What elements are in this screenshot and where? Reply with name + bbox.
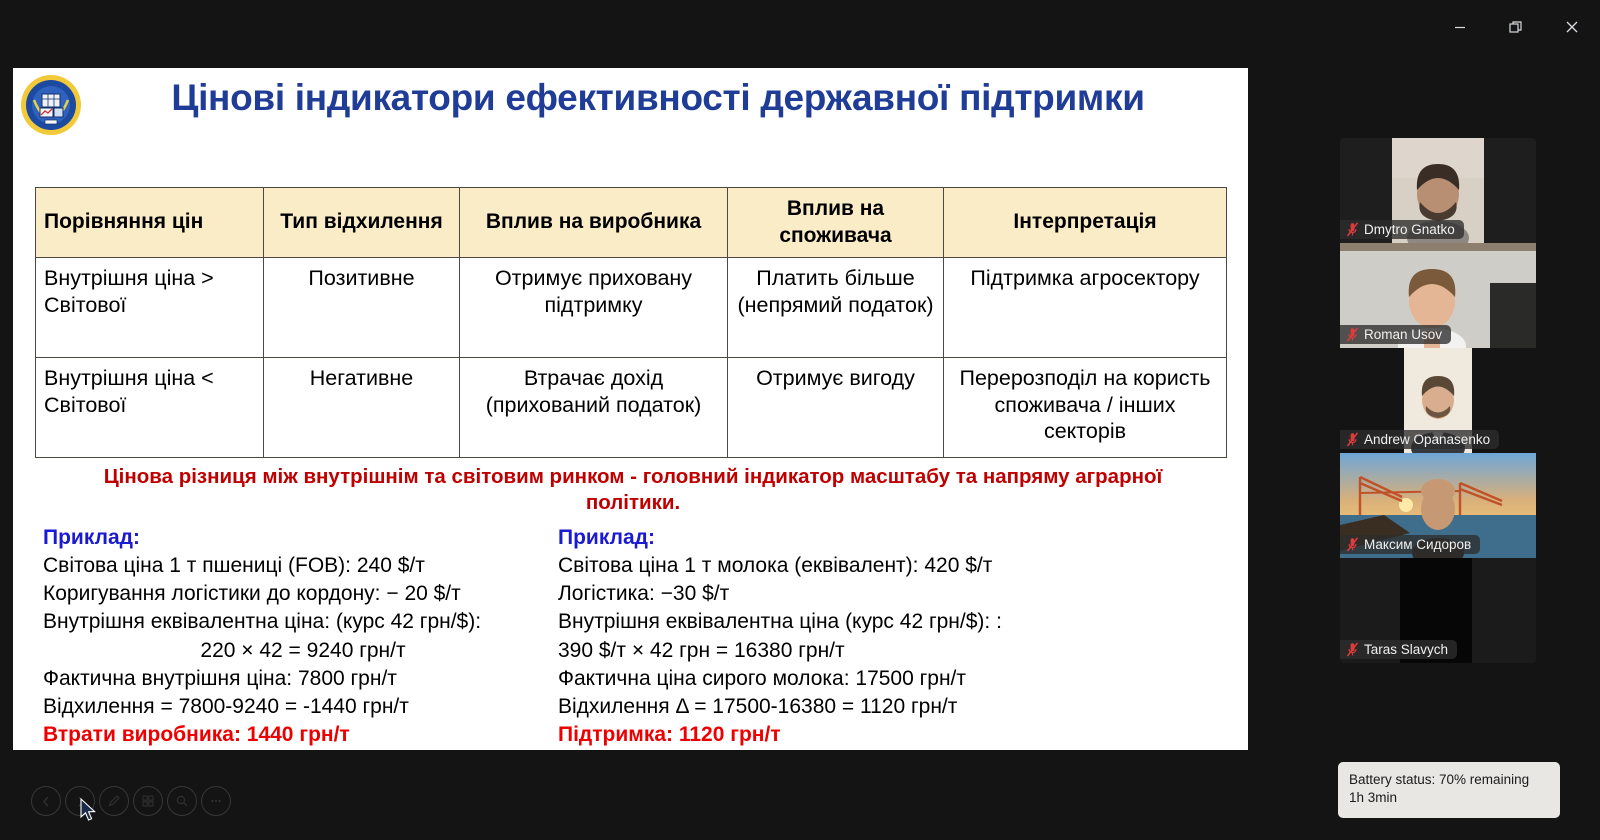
participant-tile[interactable]: Максим Сидоров <box>1340 453 1536 558</box>
microphone-muted-icon <box>1346 537 1359 552</box>
restore-button[interactable] <box>1488 0 1544 54</box>
pen-tool-button[interactable] <box>99 786 129 816</box>
example-right-heading: Приклад: <box>558 524 1098 552</box>
minimize-icon <box>1452 19 1468 35</box>
participant-tile[interactable]: Taras Slavych <box>1340 558 1536 663</box>
example-left-result: Втрати виробника: 1440 грн/т <box>43 721 563 749</box>
example-left: Приклад: Світова ціна 1 т пшениці (FOB):… <box>43 524 563 749</box>
mouse-cursor-icon <box>79 798 99 824</box>
microphone-muted-icon <box>1346 642 1359 657</box>
example-left-line: Внутрішня еквівалентна ціна: (курс 42 гр… <box>43 608 563 636</box>
table-header-cell: Тип відхилення <box>264 188 460 258</box>
close-icon <box>1563 18 1581 36</box>
participant-namebar: Максим Сидоров <box>1340 535 1480 554</box>
battery-status-line1: Battery status: 70% remaining <box>1349 771 1549 789</box>
participant-namebar: Andrew Opanasenko <box>1340 430 1499 449</box>
example-left-line: Відхилення = 7800-9240 = -1440 грн/т <box>43 693 563 721</box>
participant-tile[interactable]: Roman Usov <box>1340 243 1536 348</box>
example-left-heading: Приклад: <box>43 524 563 552</box>
table-cell: Позитивне <box>264 258 460 358</box>
participant-panel[interactable]: Dmytro Gnatko Roman Usov <box>1340 138 1536 663</box>
example-right-line: 390 $/т × 42 грн = 16380 грн/т <box>558 637 1098 665</box>
example-left-line: Світова ціна 1 т пшениці (FOB): 240 $/т <box>43 552 563 580</box>
participant-tile[interactable]: Dmytro Gnatko <box>1340 138 1536 243</box>
more-options-button[interactable] <box>201 786 231 816</box>
table-cell: Негативне <box>264 358 460 458</box>
microphone-muted-icon <box>1346 222 1359 237</box>
participant-name: Максим Сидоров <box>1364 537 1471 552</box>
table-cell: Внутрішня ціна < Світової <box>36 358 264 458</box>
university-emblem-icon <box>20 74 82 136</box>
participant-name: Roman Usov <box>1364 327 1442 342</box>
table-row: Внутрішня ціна < Світової Негативне Втра… <box>36 358 1227 458</box>
chevron-left-icon <box>40 795 53 808</box>
table-header-cell: Вплив на виробника <box>460 188 728 258</box>
table-header-cell: Інтерпретація <box>944 188 1227 258</box>
participant-namebar: Dmytro Gnatko <box>1340 220 1464 239</box>
example-right-line: Внутрішня еквівалентна ціна (курс 42 грн… <box>558 608 1098 636</box>
example-left-line: Фактична внутрішня ціна: 7800 грн/т <box>43 665 563 693</box>
zoom-button[interactable] <box>167 786 197 816</box>
table-cell: Підтримка агросектору <box>944 258 1227 358</box>
example-right-line: Логістика: −30 $/т <box>558 580 1098 608</box>
microphone-muted-icon <box>1346 432 1359 447</box>
example-right: Приклад: Світова ціна 1 т молока (еквіва… <box>558 524 1098 749</box>
participant-tile[interactable]: Andrew Opanasenko <box>1340 348 1536 453</box>
table-cell: Перерозподіл на користь споживача / інши… <box>944 358 1227 458</box>
key-statement: Цінова різниця між внутрішнім та світови… <box>58 464 1208 516</box>
window-titlebar <box>0 0 1600 54</box>
magnifier-icon <box>175 794 189 808</box>
slide-title: Цінові індикатори ефективності державної… <box>133 76 1183 120</box>
slideshow-toolbar[interactable] <box>31 786 231 816</box>
example-right-line: Світова ціна 1 т молока (еквівалент): 42… <box>558 552 1098 580</box>
indicators-table: Порівняння цін Тип відхилення Вплив на в… <box>35 187 1227 458</box>
previous-slide-button[interactable] <box>31 786 61 816</box>
participant-name: Andrew Opanasenko <box>1364 432 1490 447</box>
table-cell: Внутрішня ціна > Світової <box>36 258 264 358</box>
table-header-cell: Вплив на споживача <box>728 188 944 258</box>
grid-icon <box>141 794 155 808</box>
example-right-line: Фактична ціна сирого молока: 17500 грн/т <box>558 665 1098 693</box>
battery-status-line2: 1h 3min <box>1349 789 1549 807</box>
participant-name: Dmytro Gnatko <box>1364 222 1455 237</box>
table-cell: Втрачає дохід (прихований податок) <box>460 358 728 458</box>
presentation-slide[interactable]: Цінові індикатори ефективності державної… <box>13 68 1248 750</box>
microphone-muted-icon <box>1346 327 1359 342</box>
participant-name: Taras Slavych <box>1364 642 1448 657</box>
table-header-row: Порівняння цін Тип відхилення Вплив на в… <box>36 188 1227 258</box>
example-right-result: Підтримка: 1120 грн/т <box>558 721 1098 749</box>
table-header-cell: Порівняння цін <box>36 188 264 258</box>
example-right-line: Відхилення Δ = 17500-16380 = 1120 грн/т <box>558 693 1098 721</box>
all-slides-button[interactable] <box>133 786 163 816</box>
participant-namebar: Taras Slavych <box>1340 640 1457 659</box>
ellipsis-icon <box>209 794 223 808</box>
pen-icon <box>107 794 121 808</box>
table-cell: Платить більше (непрямий податок) <box>728 258 944 358</box>
table-row: Внутрішня ціна > Світової Позитивне Отри… <box>36 258 1227 358</box>
example-left-line: Коригування логістики до кордону: − 20 $… <box>43 580 563 608</box>
example-left-line: 220 × 42 = 9240 грн/т <box>43 637 563 665</box>
close-button[interactable] <box>1544 0 1600 54</box>
minimize-button[interactable] <box>1432 0 1488 54</box>
battery-status-toast[interactable]: Battery status: 70% remaining 1h 3min <box>1338 762 1560 818</box>
table-cell: Отримує вигоду <box>728 358 944 458</box>
restore-icon <box>1507 18 1525 36</box>
table-cell: Отримує приховану підтримку <box>460 258 728 358</box>
participant-namebar: Roman Usov <box>1340 325 1451 344</box>
